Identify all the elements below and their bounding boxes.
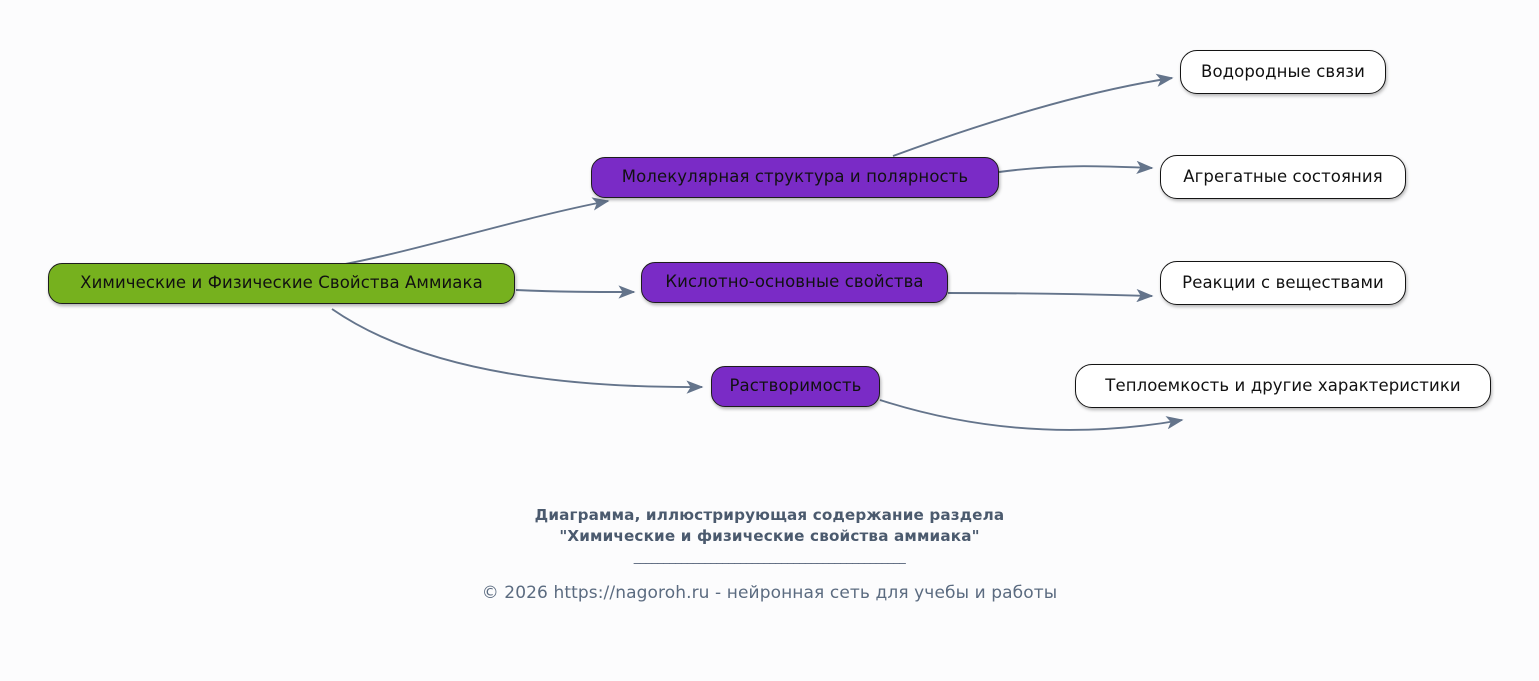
caption-block: Диаграмма, иллюстрирующая содержание раз…: [0, 505, 1539, 603]
edge-branch-1-to-leaf-2: [999, 166, 1152, 172]
node-branch-molecular-structure[interactable]: Молекулярная структура и полярность: [591, 157, 999, 198]
node-leaf-4-label: Теплоемкость и другие характеристики: [1105, 378, 1460, 395]
node-leaf-2-label: Агрегатные состояния: [1183, 169, 1383, 186]
node-leaf-hydrogen-bonds[interactable]: Водородные связи: [1180, 50, 1386, 94]
node-branch-solubility[interactable]: Растворимость: [711, 366, 880, 407]
footer-credit: © 2026 https://nagoroh.ru - нейронная се…: [0, 583, 1539, 603]
edge-root-to-branch-2: [516, 290, 634, 292]
caption-line-1: Диаграмма, иллюстрирующая содержание раз…: [0, 505, 1539, 526]
node-branch-1-label: Молекулярная структура и полярность: [622, 169, 968, 186]
node-leaf-aggregate-states[interactable]: Агрегатные состояния: [1160, 155, 1406, 199]
node-root-label: Химические и Физические Свойства Аммиака: [80, 275, 483, 292]
edge-branch-1-to-leaf-1: [893, 78, 1172, 156]
node-leaf-3-label: Реакции с веществами: [1182, 275, 1384, 292]
caption-separator-rule: ________________________________________…: [0, 550, 1539, 566]
node-branch-3-label: Растворимость: [729, 378, 861, 395]
diagram-canvas: Химические и Физические Свойства Аммиака…: [0, 0, 1539, 681]
caption-line-2: "Химические и физические свойства аммиак…: [0, 526, 1539, 547]
edge-root-to-branch-3: [332, 309, 702, 387]
node-branch-2-label: Кислотно-основные свойства: [665, 274, 923, 291]
node-leaf-heat-capacity[interactable]: Теплоемкость и другие характеристики: [1075, 364, 1491, 408]
node-leaf-reactions[interactable]: Реакции с веществами: [1160, 261, 1406, 305]
node-branch-acid-base[interactable]: Кислотно-основные свойства: [641, 262, 948, 303]
node-root[interactable]: Химические и Физические Свойства Аммиака: [48, 263, 515, 304]
edge-branch-2-to-leaf-3: [948, 293, 1152, 296]
edge-root-to-branch-1: [340, 201, 608, 265]
node-leaf-1-label: Водородные связи: [1201, 64, 1365, 81]
